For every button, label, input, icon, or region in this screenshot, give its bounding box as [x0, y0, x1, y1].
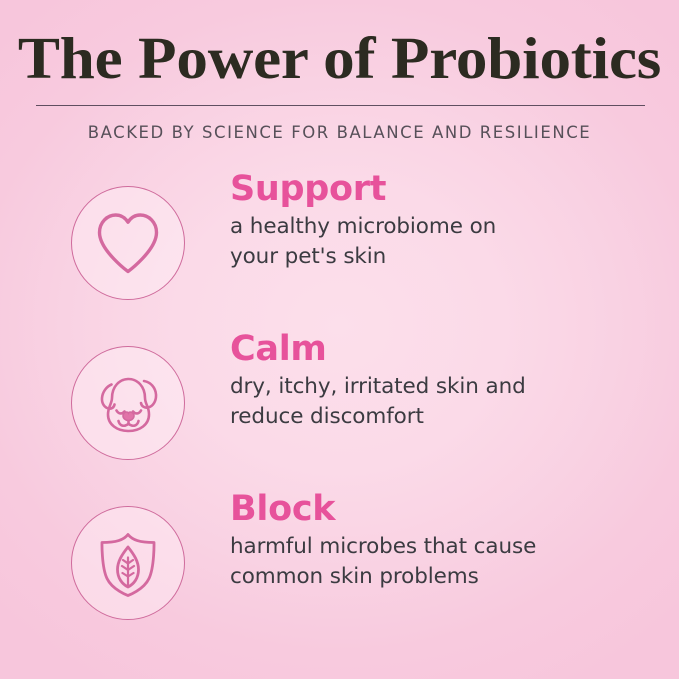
feature-text-calm: Calm dry, itchy, irritated skin and redu… [230, 328, 660, 432]
feature-text-block: Block harmful microbes that cause common… [230, 488, 660, 592]
feature-heading: Calm [230, 328, 660, 370]
feature-text-support: Support a healthy microbiome on your pet… [230, 168, 660, 272]
heart-icon [93, 210, 163, 276]
feature-description: dry, itchy, irritated skin and reduce di… [230, 372, 660, 432]
feature-row-calm: Calm dry, itchy, irritated skin and redu… [0, 328, 679, 478]
dog-face-icon [90, 368, 166, 438]
feature-heading: Support [230, 168, 660, 210]
dog-face-icon-badge [71, 346, 185, 460]
probiotics-benefits-poster: The Power of Probiotics BACKED BY SCIENC… [0, 0, 679, 679]
feature-row-support: Support a healthy microbiome on your pet… [0, 168, 679, 318]
feature-description: harmful microbes that cause common skin … [230, 532, 660, 592]
title-divider [36, 105, 645, 106]
page-title: The Power of Probiotics [0, 27, 679, 89]
feature-row-block: Block harmful microbes that cause common… [0, 488, 679, 638]
shield-leaf-icon [94, 527, 162, 599]
page-subtitle: BACKED BY SCIENCE FOR BALANCE AND RESILI… [0, 123, 679, 143]
shield-leaf-icon-badge [71, 506, 185, 620]
heart-icon-badge [71, 186, 185, 300]
feature-description: a healthy microbiome on your pet's skin [230, 212, 660, 272]
feature-heading: Block [230, 488, 660, 530]
